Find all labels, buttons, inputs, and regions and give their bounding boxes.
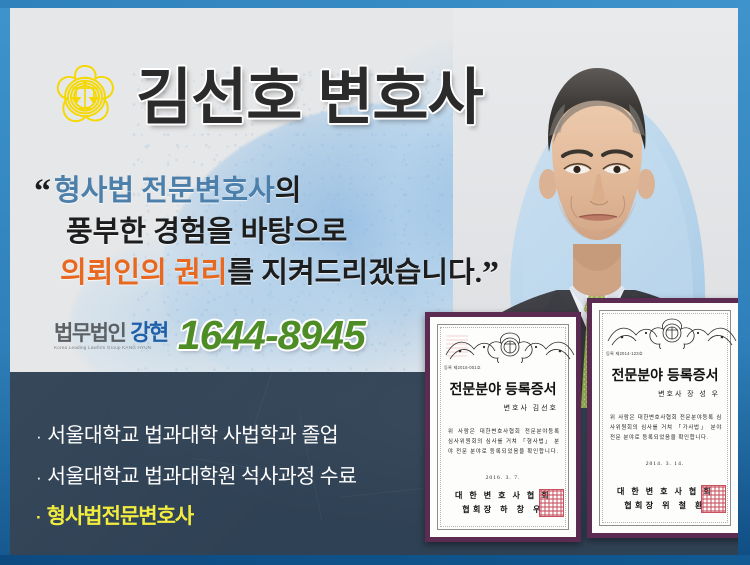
list-item-highlighted: · 형사법전문변호사	[36, 500, 357, 530]
certificate-holder-name: 김선호	[533, 404, 558, 412]
right-edge-stripe	[738, 0, 750, 565]
law-firm-label: 법무법인	[54, 323, 125, 344]
quote-highlight-blue: 형사법 전문변호사	[54, 175, 275, 207]
credentials-list: · 서울대학교 법과대학 사법학과 졸업 · 서울대학교 법과대학원 석사과정 …	[36, 418, 357, 541]
close-quote-mark: ”	[482, 255, 502, 292]
certificate-card[interactable]: 등록 제2016-001호 전문분야 등록증서 변호사 김선호 위 사람은 대한…	[425, 312, 581, 542]
quote-line-3-rest: 를 지켜드리겠습니다.	[227, 257, 482, 289]
certificate-title: 전문분야 등록증서	[592, 365, 738, 385]
lawyer-advertisement-banner: 김선호 변호사 “형사법 전문변호사의 풍부한 경험을 바탕으로 의뢰인의 권리…	[0, 0, 750, 565]
quote-line-1: “형사법 전문변호사의	[34, 170, 502, 214]
quote-highlight-orange: 의뢰인의 권리	[60, 257, 227, 289]
law-firm-subtitle: Korea Leading Lawfirm Group KANG HYUN	[54, 346, 168, 351]
credential-text: 서울대학교 법과대학원 석사과정 수료	[47, 459, 356, 489]
contact-block: 법무법인 강현 Korea Leading Lawfirm Group KANG…	[54, 315, 365, 356]
certificate-doc-number: 등록 제2014-123호	[606, 351, 643, 357]
credential-text: 서울대학교 법과대학 사법학과 졸업	[47, 418, 338, 448]
headline-quote: “형사법 전문변호사의 풍부한 경험을 바탕으로 의뢰인의 권리를 지켜드리겠습…	[34, 170, 502, 296]
certificate-ornament	[602, 315, 738, 349]
certificate-paper: 등록 제2014-123호 전문분야 등록증서 변호사 장 성 우 위 사람은 …	[592, 303, 738, 533]
certificate-paper: 등록 제2016-001호 전문분야 등록증서 변호사 김선호 위 사람은 대한…	[430, 317, 576, 537]
left-edge-stripe	[0, 0, 10, 565]
certificate-date: 2016. 3. 7.	[430, 475, 576, 481]
page-title: 김선호 변호사	[136, 67, 483, 128]
bullet-icon: ·	[36, 428, 41, 445]
official-seal-stamp	[539, 489, 564, 517]
quote-line-2: 풍부한 경험을 바탕으로	[34, 214, 502, 252]
law-firm-logo: 법무법인 강현 Korea Leading Lawfirm Group KANG…	[54, 322, 168, 356]
certificate-body: 위 사람은 대한변호사협회 전문분야등록 심사위원회의 심사를 거쳐 「형사법」…	[448, 427, 560, 457]
law-firm-brand: 강현	[130, 322, 167, 344]
credential-text: 형사법전문변호사	[47, 500, 194, 530]
bullet-icon: ·	[36, 509, 41, 526]
quote-line-1-rest: 의	[275, 175, 302, 207]
certificate-body: 위 사람은 대한변호사협회 전문분야등록 심사위원회의 심사를 거쳐 「가사법」…	[610, 413, 722, 443]
certificate-holder-name: 장 성 우	[687, 390, 720, 398]
quote-line-3: 의뢰인의 권리를 지켜드리겠습니다.”	[34, 252, 502, 296]
law-firm-name-row: 법무법인 강현	[54, 322, 168, 344]
banner-header: 김선호 변호사	[48, 60, 483, 134]
certificate-holder: 변호사 장 성 우	[592, 389, 720, 399]
korean-bar-association-emblem	[48, 60, 122, 134]
top-edge-stripe	[0, 0, 750, 8]
bottom-edge-stripe	[0, 555, 750, 565]
certificate-card[interactable]: 등록 제2014-123호 전문분야 등록증서 변호사 장 성 우 위 사람은 …	[587, 298, 738, 538]
bullet-icon: ·	[36, 469, 41, 486]
certificate-holder-label: 변호사	[658, 390, 683, 398]
certificate-date: 2014. 3. 14.	[592, 461, 738, 467]
open-quote-mark: “	[34, 173, 54, 210]
certificate-doc-number: 등록 제2016-001호	[444, 365, 481, 371]
phone-number[interactable]: 1644-8945	[178, 315, 365, 356]
banner-stage: 김선호 변호사 “형사법 전문변호사의 풍부한 경험을 바탕으로 의뢰인의 권리…	[10, 8, 738, 555]
official-seal-stamp	[701, 485, 726, 513]
certificate-holder-label: 변호사	[504, 404, 529, 412]
list-item: · 서울대학교 법과대학 사법학과 졸업	[36, 418, 357, 448]
certificate-title: 전문분야 등록증서	[430, 379, 576, 399]
certificate-ornament	[440, 329, 576, 363]
list-item: · 서울대학교 법과대학원 석사과정 수료	[36, 459, 357, 489]
certificate-holder: 변호사 김선호	[430, 403, 558, 413]
